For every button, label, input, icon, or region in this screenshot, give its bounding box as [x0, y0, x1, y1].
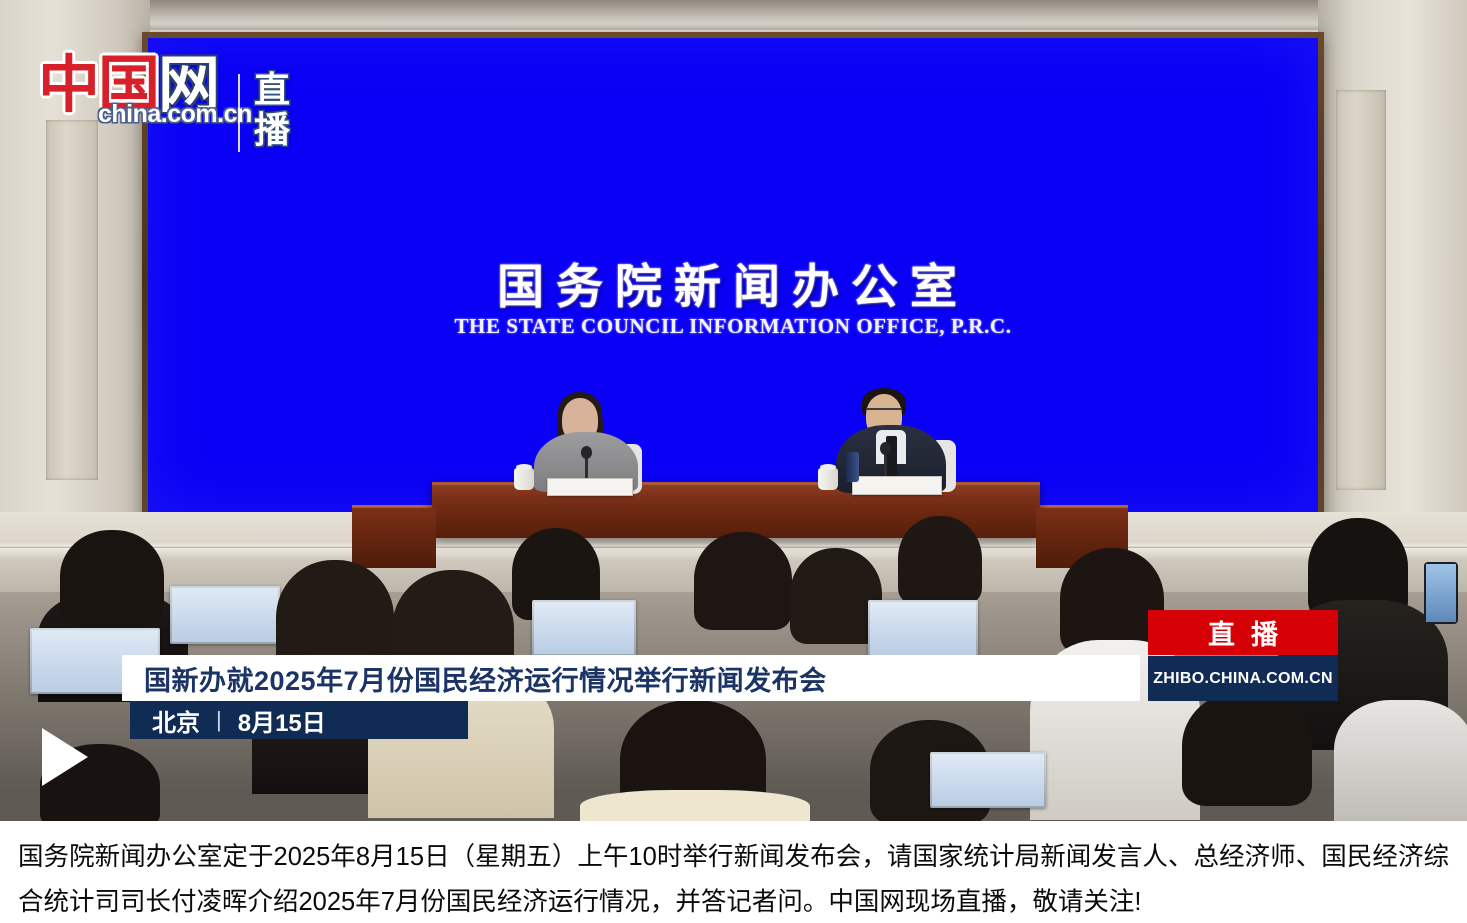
- wall-panel-right: [1318, 0, 1467, 580]
- nameplate-left: [547, 478, 633, 496]
- lower-third-headline-bar: 国新办就2025年7月份国民经济运行情况举行新闻发布会: [122, 655, 1140, 701]
- video-description: 国务院新闻办公室定于2025年8月15日（星期五）上午10时举行新闻发布会，请国…: [0, 821, 1467, 923]
- live-badge-url: ZHIBO.CHINA.COM.CN: [1153, 670, 1333, 688]
- lower-third-date: 8月15日: [238, 703, 326, 738]
- lower-third-separator: |: [216, 707, 222, 733]
- audience-member: [898, 516, 982, 604]
- audience-member: [580, 790, 810, 821]
- ceiling-cornice: [0, 0, 1467, 34]
- audience-member: [1182, 690, 1312, 806]
- video-description-text: 国务院新闻办公室定于2025年8月15日（星期五）上午10时举行新闻发布会，请国…: [18, 835, 1449, 923]
- wall-panel-right-inset: [1336, 90, 1386, 490]
- microphone-left-head: [581, 446, 592, 459]
- live-badge: 直播: [1148, 610, 1338, 655]
- logo-live-label: 直播: [254, 70, 290, 151]
- live-badge-url-bar: ZHIBO.CHINA.COM.CN: [1148, 656, 1338, 701]
- logo-divider: [238, 74, 240, 152]
- nameplate-right: [852, 476, 942, 495]
- audience-member: [1334, 700, 1467, 821]
- live-stream-page: 国务院新闻办公室 THE STATE COUNCIL INFORMATION O…: [0, 0, 1467, 923]
- screen-title-chinese: 国务院新闻办公室: [148, 248, 1318, 317]
- play-triangle-icon[interactable]: [42, 728, 88, 786]
- audience-member: [60, 530, 164, 626]
- screen-title-english: THE STATE COUNCIL INFORMATION OFFICE, P.…: [148, 314, 1318, 339]
- smartphone: [1424, 562, 1458, 624]
- video-player-stage[interactable]: 国务院新闻办公室 THE STATE COUNCIL INFORMATION O…: [0, 0, 1467, 821]
- logo-url-text: china.com.cn: [98, 100, 252, 129]
- water-bottle: [846, 452, 859, 482]
- logo-char-zhong: 中: [38, 52, 98, 120]
- audience-member: [694, 532, 792, 630]
- channel-logo: 中国网 china.com.cn 直播: [38, 34, 288, 138]
- laptop: [930, 752, 1046, 808]
- teacup-left: [514, 468, 534, 490]
- led-screen: 国务院新闻办公室 THE STATE COUNCIL INFORMATION O…: [148, 38, 1318, 512]
- led-screen-frame: 国务院新闻办公室 THE STATE COUNCIL INFORMATION O…: [142, 32, 1324, 518]
- laptop: [170, 586, 280, 644]
- podium-desk-left-wing: [352, 508, 436, 568]
- live-badge-label: 直播: [1192, 613, 1294, 652]
- microphone-right-head: [880, 442, 891, 455]
- laptop: [532, 600, 636, 656]
- lower-third-headline: 国新办就2025年7月份国民经济运行情况举行新闻发布会: [144, 659, 827, 698]
- teacup-right: [818, 468, 838, 490]
- glasses-icon: [866, 408, 902, 416]
- lower-third-city: 北京: [152, 703, 200, 738]
- lower-third-meta-bar: 北京 | 8月15日: [130, 701, 468, 739]
- wall-panel-left-inset: [46, 120, 98, 480]
- laptop: [868, 600, 978, 658]
